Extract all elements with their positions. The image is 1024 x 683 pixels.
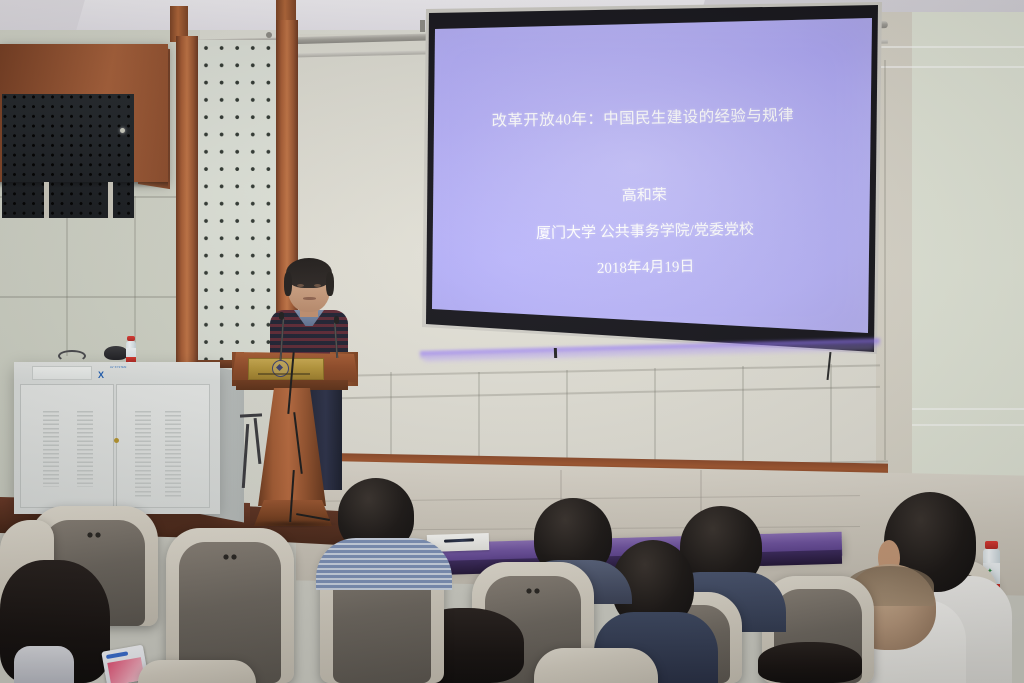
presenter-hair-side (284, 272, 292, 296)
plaque-inscription (258, 373, 310, 375)
microphone-head-icon[interactable] (279, 312, 284, 320)
wood-pillar-left (176, 36, 198, 366)
seat-vent-holes (525, 588, 541, 594)
brand-name: AV SYSTEM (110, 366, 126, 369)
right-wall-seam (876, 66, 1024, 68)
cabinet-brand-logo: X AV SYSTEM (98, 365, 134, 379)
cabinet-vent (135, 411, 151, 497)
microphone-head-icon[interactable] (334, 316, 339, 324)
seat-vent-holes (86, 532, 102, 538)
seat-vent-holes (222, 554, 238, 560)
right-wall-pillar (876, 12, 916, 522)
cabinet-lock-icon[interactable] (114, 438, 119, 443)
seat[interactable] (534, 648, 658, 683)
wall-panel-seam (66, 196, 68, 356)
presenter-mouth (303, 297, 316, 300)
cabinet-vent (77, 411, 93, 487)
presenter-eye (297, 284, 304, 287)
bottle-label-band (126, 357, 136, 362)
phone-screen-header (106, 651, 128, 659)
audience-person-shoulders (14, 646, 74, 683)
right-wall-seam (876, 46, 1024, 48)
wall-panel-seam (566, 370, 568, 468)
audience-person-shoulders (316, 538, 452, 590)
cabinet-door-right[interactable] (116, 384, 210, 508)
cabinet-vent (165, 411, 181, 497)
right-wall-seam (912, 424, 1024, 426)
cable-coil (58, 350, 86, 362)
cabinet-top-equipment (104, 346, 128, 360)
presenter-eye (314, 284, 321, 287)
wall-panel-seam (0, 296, 178, 298)
speaker-grille (2, 94, 134, 218)
speaker-bracket (44, 182, 49, 218)
presenter-hair-side (326, 272, 334, 296)
seat[interactable] (138, 660, 256, 683)
cabinet-vent (43, 411, 59, 487)
slide-date: 2018年4月19日 (425, 252, 865, 281)
wall-panel-seam (390, 372, 392, 466)
wall-mounted-speaker (0, 44, 168, 182)
podium-shadow (250, 520, 338, 528)
brand-mark-icon: X (98, 370, 104, 380)
wall-panel-seam (884, 60, 886, 460)
speaker-drop-shadow (0, 182, 168, 188)
perforated-acoustic-panel (198, 40, 276, 362)
rail-mount (266, 32, 272, 38)
slide-presenter: 高和荣 (424, 180, 864, 209)
right-wall (912, 12, 1024, 522)
slide-affiliation: 厦门大学 公共事务学院/党委党校 (425, 216, 865, 245)
audience-person-hair-long (758, 642, 862, 683)
speaker-bracket (108, 182, 113, 218)
slide-title: 改革开放40年：中国民生建设的经验与规律 (423, 102, 863, 132)
cabinet-label-slot (32, 366, 92, 380)
slide-content: 改革开放40年：中国民生建设的经验与规律 高和荣 厦门大学 公共事务学院/党委党… (401, 0, 886, 367)
projection-screen: 改革开放40年：中国民生建设的经验与规律 高和荣 厦门大学 公共事务学院/党委党… (404, 2, 882, 362)
right-wall-seam (912, 408, 1024, 410)
lecture-hall-scene: 改革开放40年：中国民生建设的经验与规律 高和荣 厦门大学 公共事务学院/党委党… (0, 0, 1024, 683)
speaker-indicator-icon (120, 128, 125, 133)
bottle-cap (985, 541, 998, 549)
wall-panel-seam (830, 364, 832, 468)
screen-cord (554, 348, 557, 358)
wall-panel-seam (742, 366, 744, 468)
wall-panel-seam (654, 368, 656, 468)
wall-panel-seam (478, 372, 480, 468)
cabinet-door-left[interactable] (20, 384, 114, 508)
wall-panel-seam (134, 196, 136, 356)
av-equipment-cabinet[interactable]: X AV SYSTEM (14, 362, 220, 514)
